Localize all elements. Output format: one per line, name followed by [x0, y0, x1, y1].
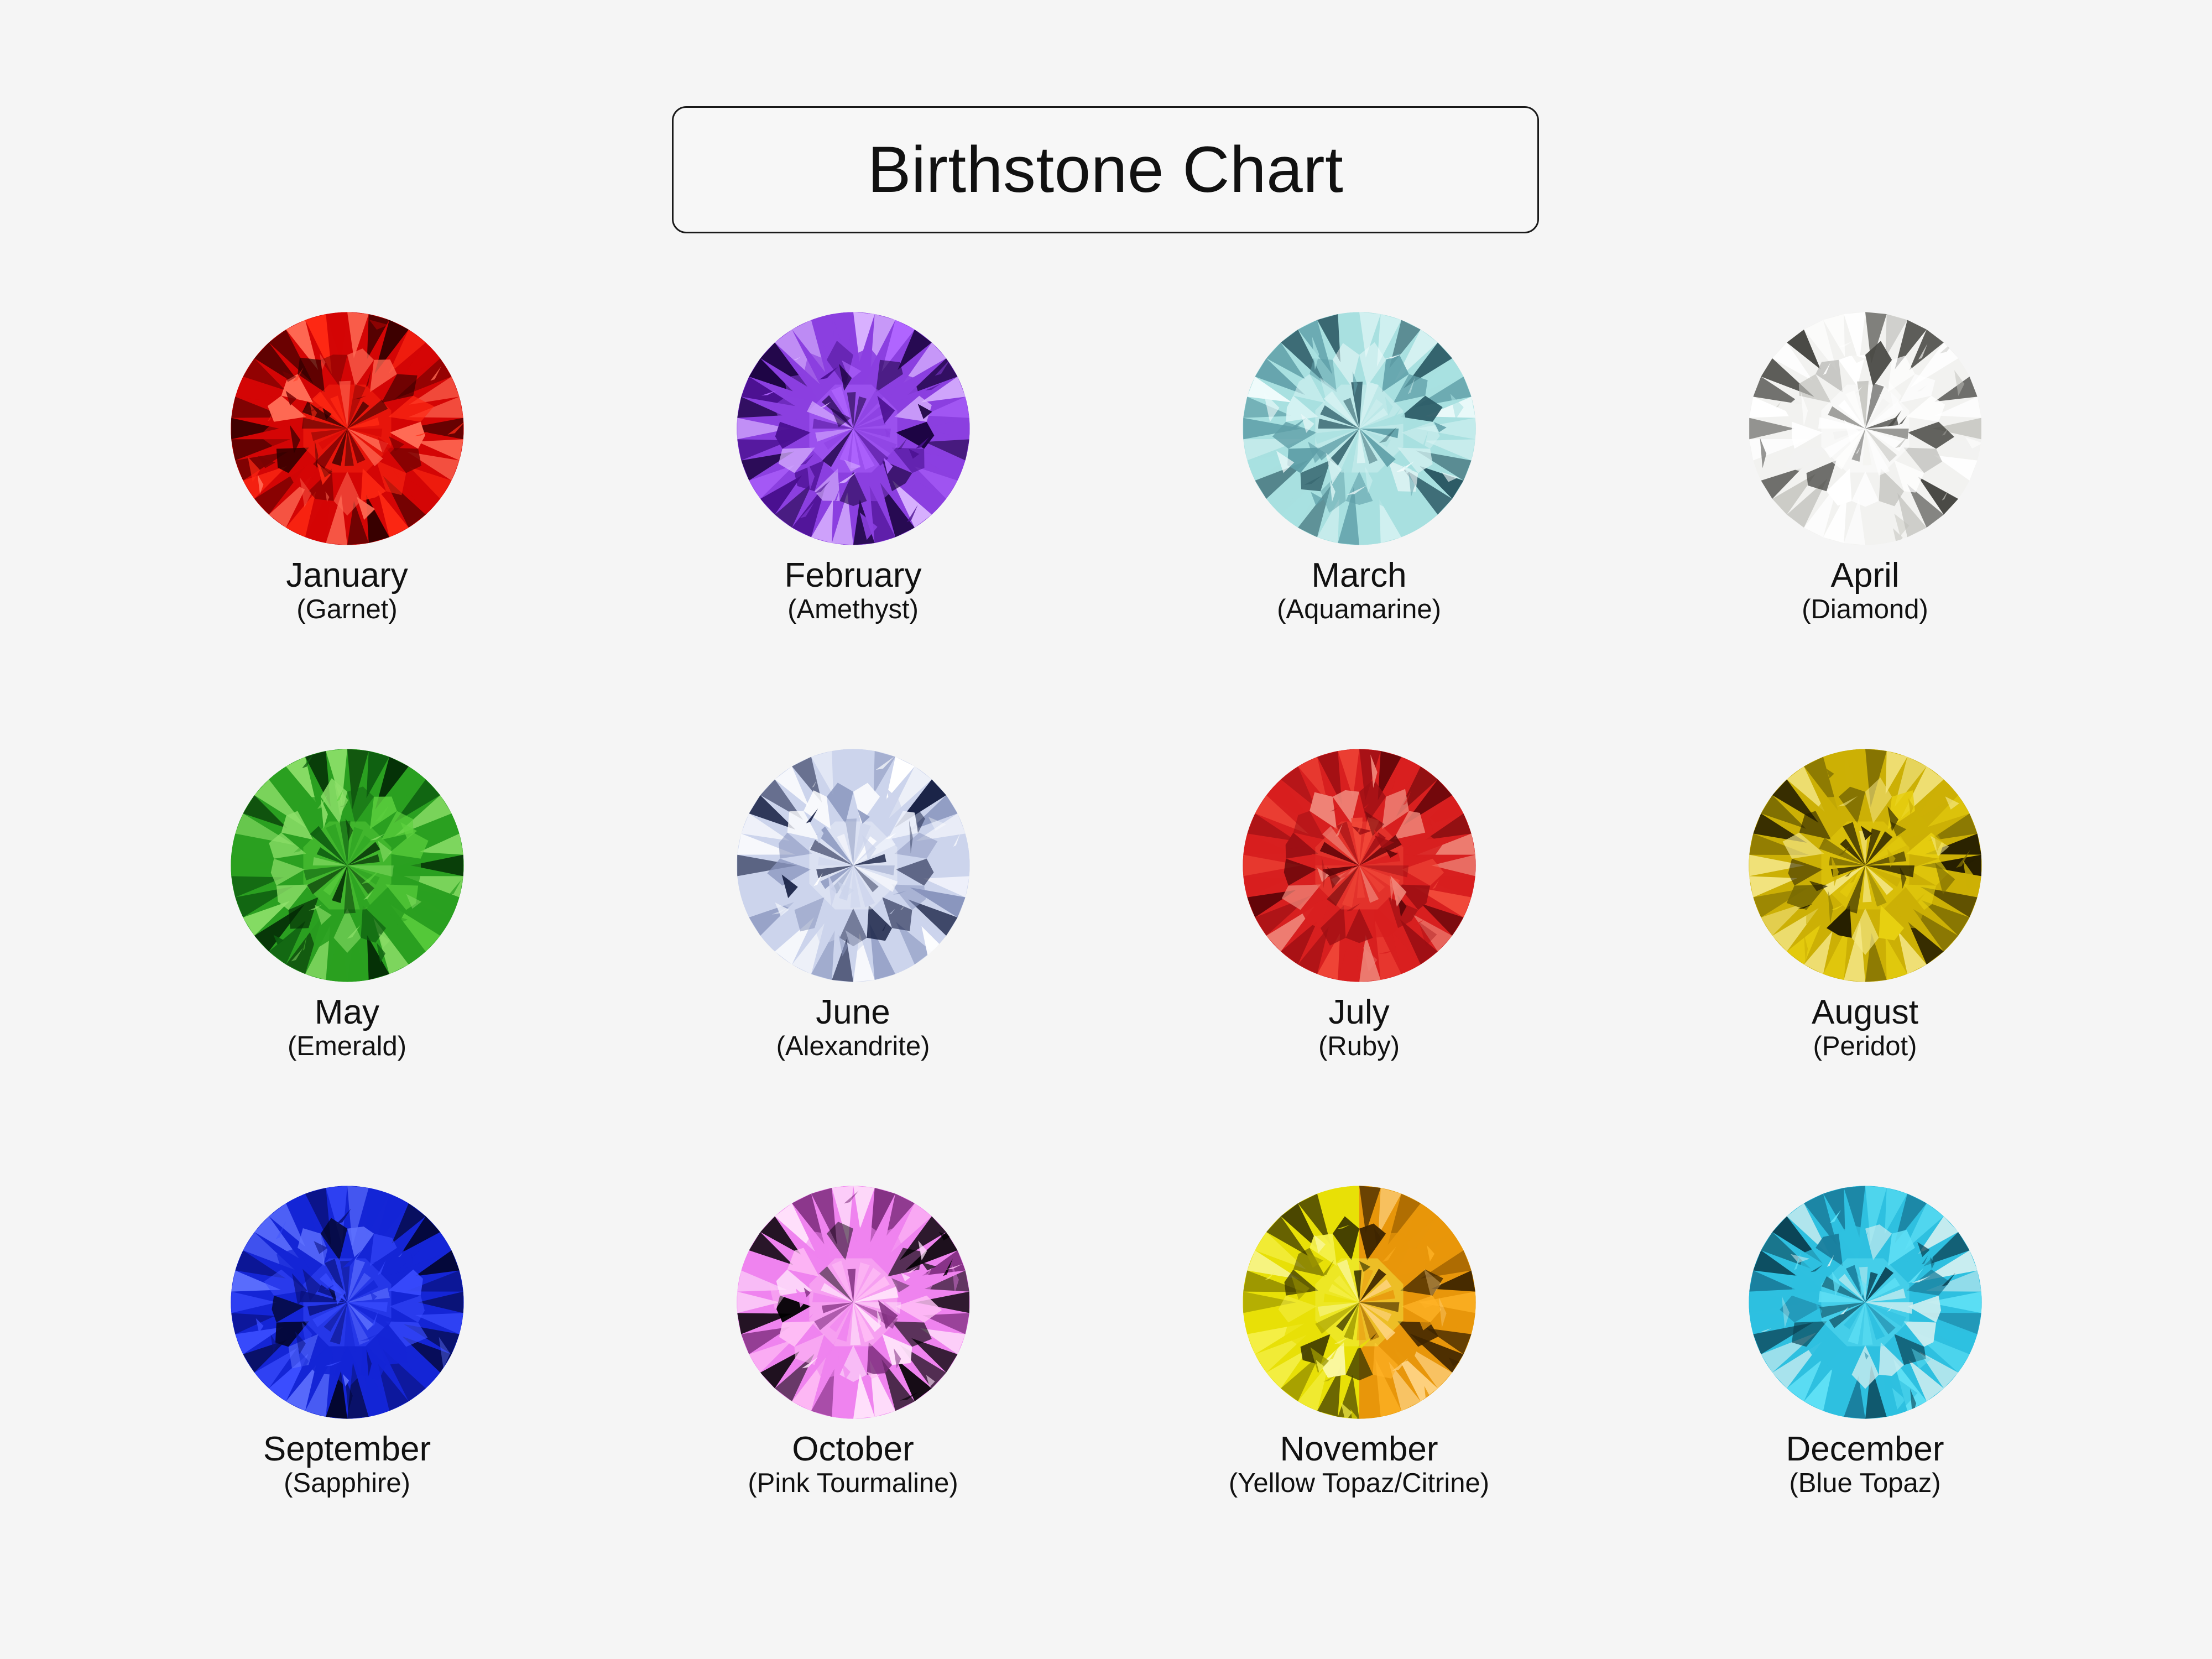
stone-label: (Blue Topaz) [1789, 1469, 1940, 1498]
gemstone-alexandrite-icon [734, 747, 972, 984]
page-title: Birthstone Chart [868, 137, 1344, 202]
birthstone-cell-october: October(Pink Tourmaline) [600, 1183, 1106, 1620]
gemstone-diamond-icon [1746, 310, 1984, 547]
month-label: July [1328, 994, 1389, 1030]
gemstone-yellow-topaz-citrine-icon [1240, 1183, 1478, 1421]
birthstone-cell-july: July(Ruby) [1106, 747, 1612, 1183]
stone-label: (Diamond) [1802, 596, 1928, 624]
gemstone-pink-tourmaline-icon [734, 1183, 972, 1421]
gemstone-aquamarine-icon [1240, 310, 1478, 547]
gem-facets [1746, 310, 1984, 547]
gemstone-sapphire-icon [228, 1183, 466, 1421]
gemstone-amethyst-icon [734, 310, 972, 547]
month-label: April [1830, 557, 1899, 593]
gem-facets [228, 310, 466, 547]
birthstone-cell-june: June(Alexandrite) [600, 747, 1106, 1183]
gemstone-blue-topaz-icon [1746, 1183, 1984, 1421]
stone-label: (Alexandrite) [776, 1032, 930, 1061]
gem-facets [1746, 747, 1984, 984]
stone-label: (Ruby) [1318, 1032, 1400, 1061]
month-label: September [263, 1431, 431, 1467]
birthstone-cell-november: November(Yellow Topaz/Citrine) [1106, 1183, 1612, 1620]
gem-facets [734, 1183, 972, 1421]
gemstone-garnet-icon [228, 310, 466, 547]
stone-label: (Sapphire) [284, 1469, 410, 1498]
stone-label: (Garnet) [296, 596, 397, 624]
month-label: May [315, 994, 379, 1030]
birthstone-cell-april: April(Diamond) [1612, 310, 2118, 747]
gemstone-ruby-icon [1240, 747, 1478, 984]
birthstone-cell-december: December(Blue Topaz) [1612, 1183, 2118, 1620]
gem-facets [1240, 310, 1478, 547]
birthstone-cell-february: February(Amethyst) [600, 310, 1106, 747]
month-label: January [286, 557, 408, 593]
stone-label: (Emerald) [288, 1032, 406, 1061]
gem-facets [228, 747, 466, 984]
month-label: November [1280, 1431, 1438, 1467]
stone-label: (Aquamarine) [1277, 596, 1441, 624]
month-label: March [1311, 557, 1406, 593]
gem-facets [1746, 1183, 1984, 1421]
month-label: June [816, 994, 890, 1030]
month-label: October [792, 1431, 914, 1467]
birthstone-cell-may: May(Emerald) [94, 747, 600, 1183]
month-label: December [1786, 1431, 1944, 1467]
birthstone-cell-march: March(Aquamarine) [1106, 310, 1612, 747]
birthstone-cell-january: January(Garnet) [94, 310, 600, 747]
stone-label: (Amethyst) [787, 596, 919, 624]
gem-facets [734, 747, 972, 984]
stone-label: (Pink Tourmaline) [748, 1469, 958, 1498]
gem-facets [1240, 1183, 1478, 1421]
gem-facets [1240, 747, 1478, 984]
birthstone-chart-page: Birthstone Chart January(Garnet)February… [0, 0, 2212, 1659]
gemstone-peridot-icon [1746, 747, 1984, 984]
birthstone-cell-august: August(Peridot) [1612, 747, 2118, 1183]
gemstone-emerald-icon [228, 747, 466, 984]
stone-label: (Peridot) [1813, 1032, 1917, 1061]
gem-facets [228, 1183, 466, 1421]
birthstone-cell-september: September(Sapphire) [94, 1183, 600, 1620]
stone-label: (Yellow Topaz/Citrine) [1229, 1469, 1489, 1498]
birthstone-grid: January(Garnet)February(Amethyst)March(A… [0, 310, 2212, 1620]
month-label: August [1812, 994, 1918, 1030]
month-label: February [784, 557, 921, 593]
gem-facets [734, 310, 972, 547]
chart-title-box: Birthstone Chart [672, 106, 1539, 233]
